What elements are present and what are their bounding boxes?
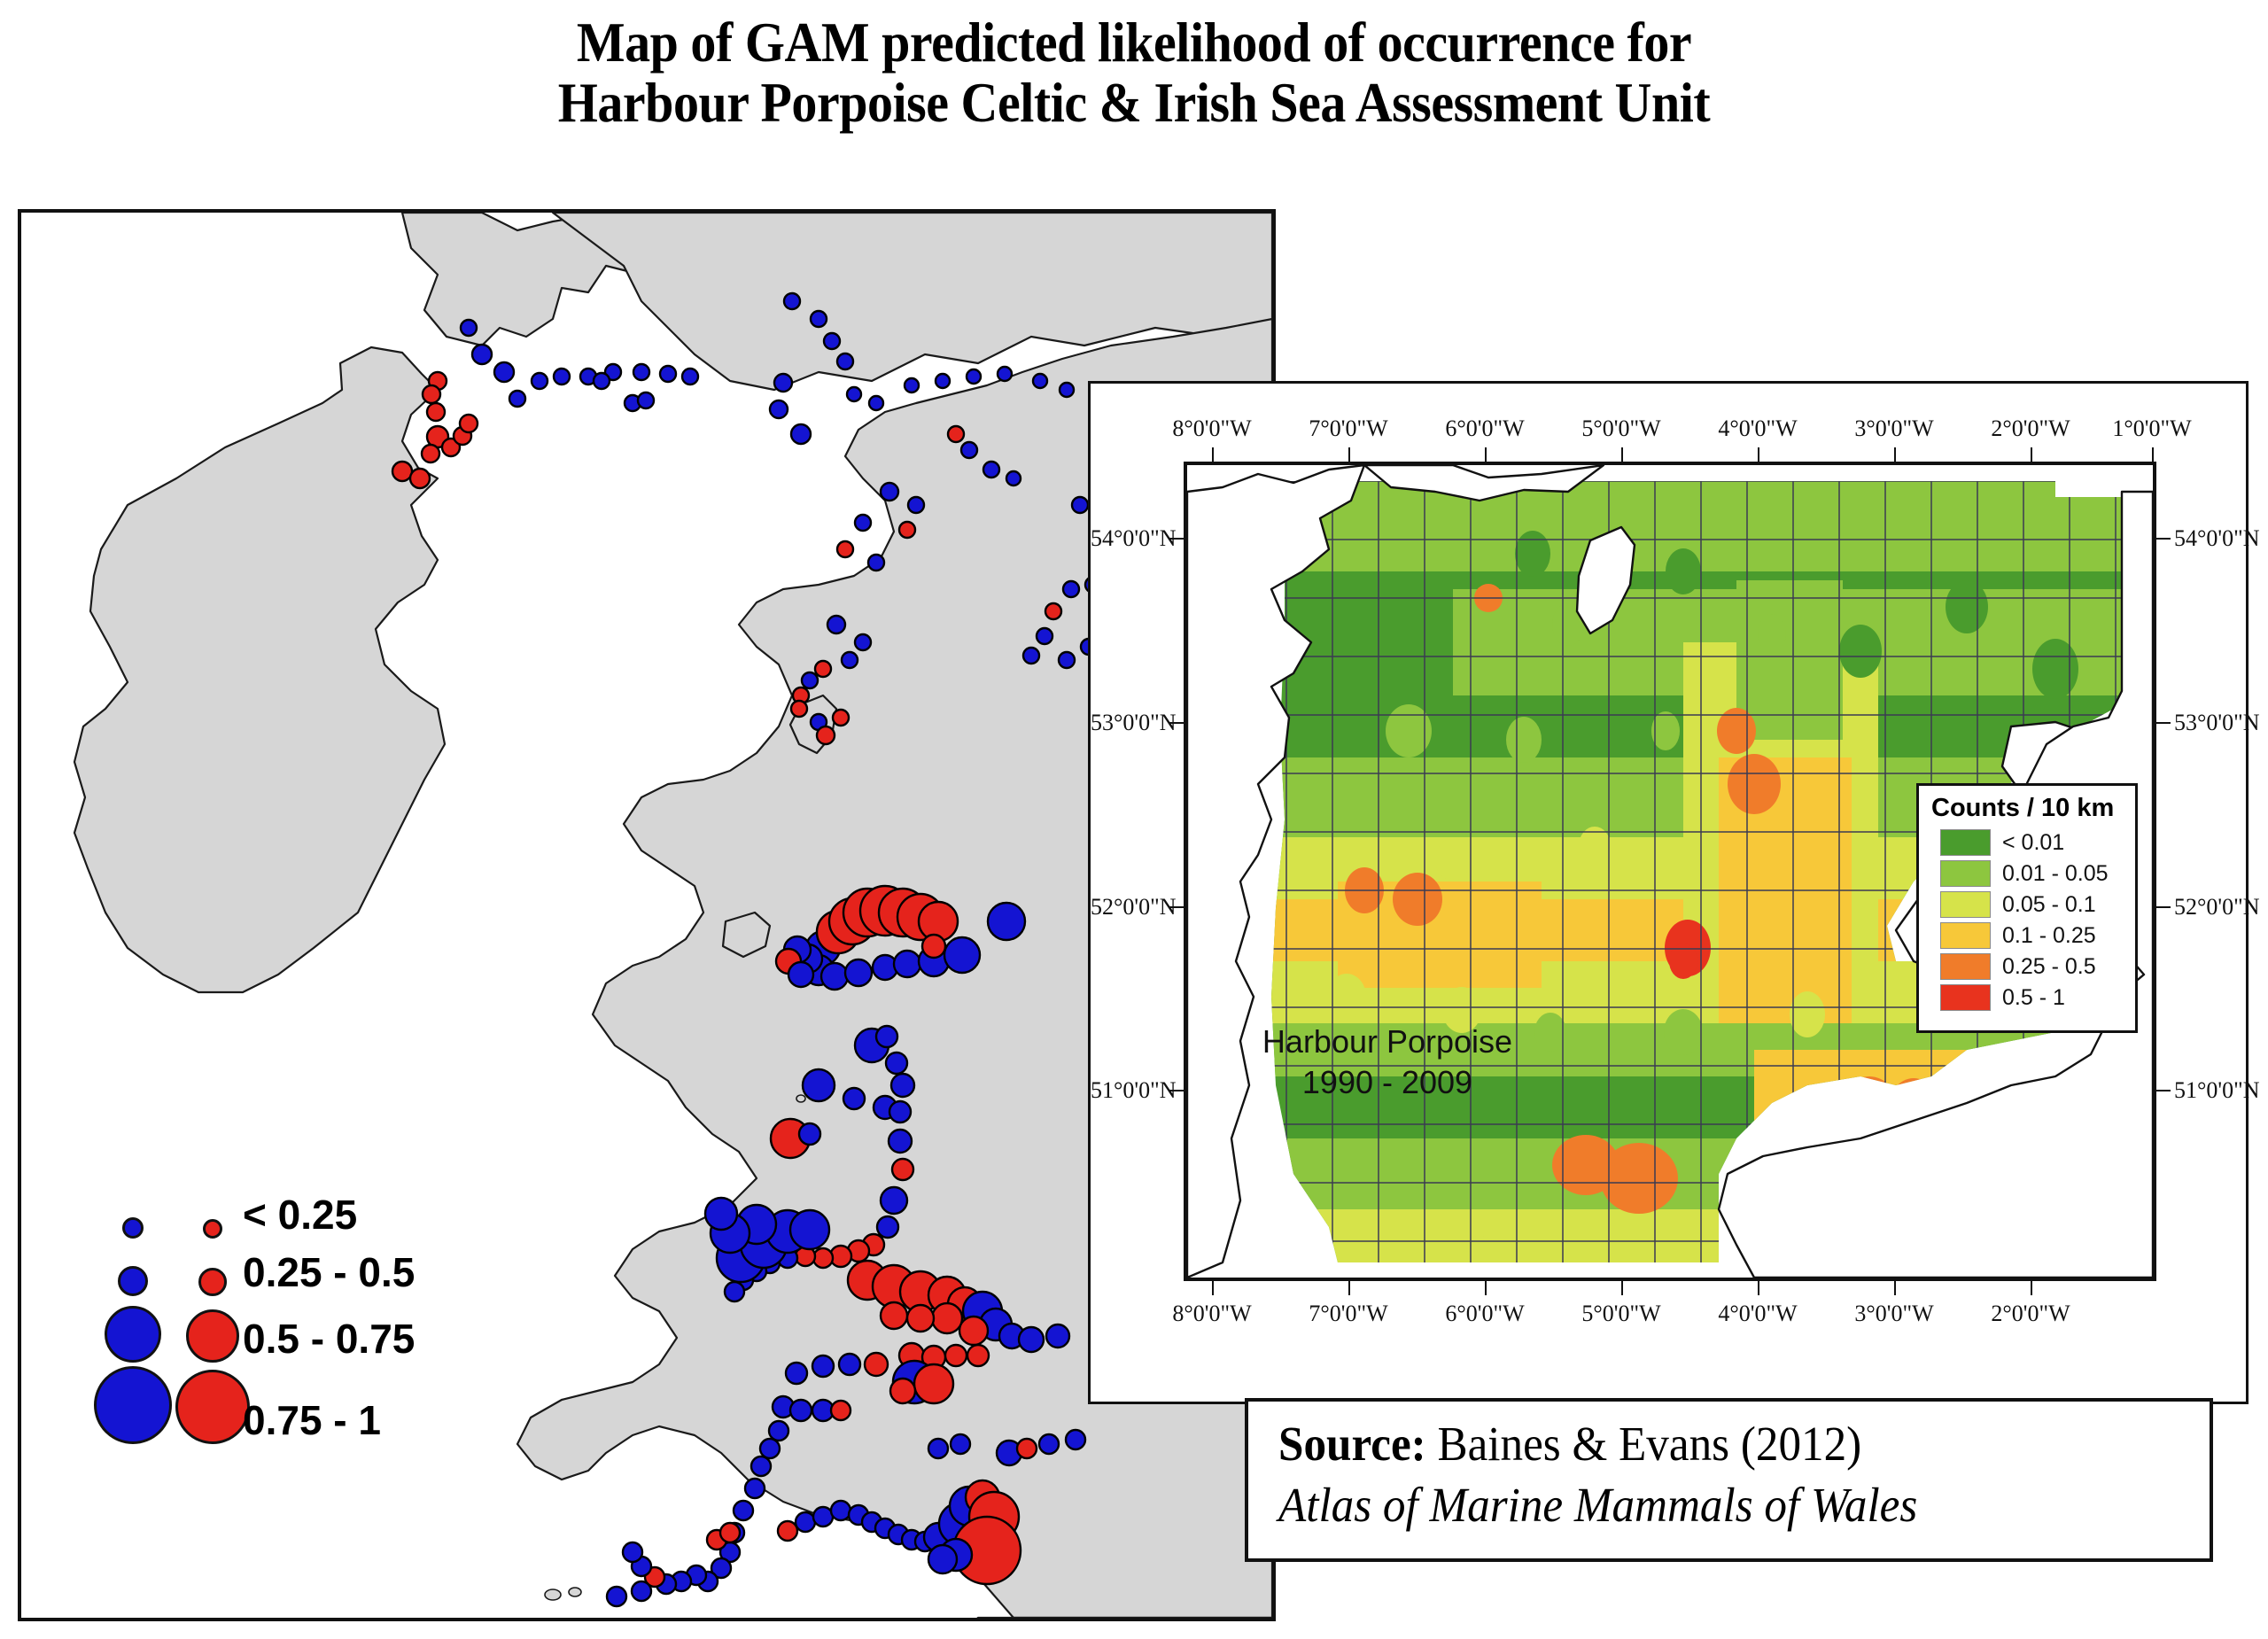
- inset-lon-label-top: 3°0'0"W: [1854, 416, 1933, 442]
- occurrence-point: [791, 701, 807, 717]
- density-blob: [1758, 614, 1786, 653]
- occurrence-point: [769, 1421, 788, 1441]
- inset-lat-label-left: 51°0'0"N: [1091, 1077, 1176, 1104]
- density-blob: [1666, 548, 1701, 594]
- counts-swatch: [1940, 860, 1991, 887]
- inset-tick: [1894, 447, 1896, 462]
- legend-symbol-red: [175, 1370, 250, 1444]
- counts-swatch: [1940, 984, 1991, 1011]
- inset-tick: [1169, 722, 1184, 724]
- occurrence-point: [1059, 652, 1075, 668]
- counts-label: 0.05 - 0.1: [2002, 892, 2096, 918]
- occurrence-point: [1066, 1430, 1085, 1449]
- inset-tick: [2152, 447, 2154, 462]
- inset-tick: [1169, 906, 1184, 908]
- counts-legend-row: 0.5 - 1: [1940, 984, 2135, 1011]
- occurrence-point: [509, 391, 525, 407]
- occurrence-point: [1039, 1434, 1059, 1454]
- occurrence-point: [817, 726, 835, 744]
- occurrence-point: [837, 541, 853, 557]
- counts-swatch: [1940, 922, 1991, 949]
- occurrence-point: [770, 400, 788, 418]
- occurrence-point: [494, 362, 514, 382]
- occurrence-point: [802, 672, 818, 688]
- occurrence-point: [922, 935, 945, 958]
- occurrence-point: [607, 1587, 626, 1606]
- occurrence-point: [868, 555, 884, 571]
- occurrence-point: [948, 426, 964, 442]
- counts-label: 0.25 - 0.5: [2002, 954, 2096, 980]
- occurrence-point: [821, 963, 848, 990]
- occurrence-point: [786, 1363, 807, 1384]
- occurrence-point: [472, 345, 492, 364]
- inset-lon-label-top: 5°0'0"W: [1581, 416, 1660, 442]
- occurrence-point: [788, 962, 813, 987]
- occurrence-point: [778, 1521, 797, 1541]
- occurrence-point: [799, 1123, 820, 1145]
- density-cell: [1736, 580, 1843, 740]
- legend-symbol-red: [203, 1219, 222, 1239]
- inset-lon-label-top: 1°0'0"W: [2112, 416, 2191, 442]
- occurrence-point: [891, 1074, 914, 1097]
- occurrence-point: [725, 1282, 744, 1301]
- occurrence-point: [423, 385, 440, 403]
- inset-tick: [1348, 447, 1350, 462]
- occurrence-point: [961, 442, 977, 458]
- occurrence-point: [751, 1456, 771, 1476]
- counts-label: 0.5 - 1: [2002, 985, 2065, 1011]
- inset-tick: [1212, 447, 1214, 462]
- occurrence-point: [1006, 471, 1021, 485]
- inset-tick: [1758, 447, 1759, 462]
- density-blob: [1664, 1009, 1703, 1055]
- occurrence-point: [845, 959, 872, 986]
- occurrence-point: [790, 1210, 829, 1249]
- occurrence-point: [623, 1542, 642, 1562]
- legend-label: 0.75 - 1: [243, 1396, 381, 1444]
- occurrence-point: [907, 1305, 934, 1332]
- counts-swatch: [1940, 891, 1991, 918]
- inset-lon-label-top: 6°0'0"W: [1445, 416, 1524, 442]
- source-box: Source: Baines & Evans (2012) Atlas of M…: [1245, 1398, 2213, 1562]
- occurrence-point: [427, 403, 445, 421]
- inset-tick: [2031, 447, 2032, 462]
- counts-legend-row: < 0.01: [1940, 829, 2135, 856]
- inset-tick: [1894, 1281, 1896, 1295]
- occurrence-point: [812, 1355, 834, 1377]
- occurrence-point: [827, 616, 845, 633]
- source-citation: Baines & Evans (2012): [1426, 1417, 1862, 1471]
- inset-lon-label-bottom: 6°0'0"W: [1445, 1301, 1524, 1327]
- occurrence-point: [1033, 374, 1047, 388]
- occurrence-point: [890, 1379, 915, 1403]
- inset-tick: [1348, 1281, 1350, 1295]
- inset-lat-label-left: 52°0'0"N: [1091, 894, 1176, 920]
- occurrence-point: [831, 1401, 850, 1420]
- landmass: [74, 347, 445, 992]
- counts-swatch: [1940, 829, 1991, 856]
- occurrence-point: [784, 293, 800, 309]
- occurrence-point: [461, 320, 477, 336]
- occurrence-point: [633, 364, 649, 380]
- occurrence-point: [928, 1545, 957, 1573]
- occurrence-point: [881, 483, 898, 501]
- counts-legend-title: Counts / 10 km: [1931, 794, 2135, 823]
- occurrence-point: [998, 367, 1012, 381]
- occurrence-point: [833, 710, 849, 726]
- density-blob: [1839, 625, 1882, 678]
- density-blob: [1360, 936, 1378, 960]
- density-blob: [1515, 531, 1550, 577]
- inset-tick: [2156, 1090, 2171, 1091]
- occurrence-point: [908, 497, 924, 513]
- occurrence-point: [745, 1479, 765, 1498]
- counts-label: < 0.01: [2002, 830, 2064, 856]
- inset-lat-label-left: 53°0'0"N: [1091, 710, 1176, 736]
- title-line-1: Map of GAM predicted likelihood of occur…: [90, 12, 2177, 73]
- legend-symbol-blue: [118, 1266, 148, 1296]
- occurrence-point: [892, 1159, 913, 1180]
- occurrence-point: [824, 333, 840, 349]
- counts-legend-row: 0.25 - 0.5: [1940, 953, 2135, 980]
- inset-caption: Harbour Porpoise 1990 - 2009: [1232, 1021, 1542, 1103]
- legend-symbol-blue: [105, 1306, 161, 1363]
- density-blob: [1946, 580, 1988, 633]
- inset-caption-species: Harbour Porpoise: [1232, 1021, 1542, 1062]
- inset-tick: [2156, 906, 2171, 908]
- counts-legend-row: 0.05 - 0.1: [1940, 891, 2135, 918]
- occurrence-point: [983, 462, 999, 478]
- inset-lon-label-top: 8°0'0"W: [1172, 416, 1251, 442]
- occurrence-point: [951, 1434, 970, 1454]
- occurrence-point: [734, 1501, 753, 1520]
- occurrence-point: [1060, 383, 1074, 397]
- occurrence-point: [831, 1501, 850, 1520]
- density-blob: [1506, 717, 1542, 763]
- occurrence-point: [774, 374, 792, 392]
- legend-label: < 0.25: [243, 1191, 357, 1239]
- occurrence-point: [532, 373, 548, 389]
- occurrence-point: [876, 1026, 897, 1047]
- inset-lat-label-right: 54°0'0"N: [2174, 525, 2259, 552]
- island: [796, 1095, 805, 1102]
- occurrence-point: [796, 1512, 815, 1532]
- occurrence-point: [839, 1354, 860, 1375]
- occurrence-point: [889, 1101, 911, 1122]
- occurrence-point: [392, 462, 412, 481]
- inset-caption-years: 1990 - 2009: [1232, 1062, 1542, 1103]
- inset-lon-label-top: 4°0'0"W: [1718, 416, 1797, 442]
- occurrence-point: [881, 1187, 907, 1214]
- occurrence-point: [967, 369, 981, 384]
- occurrence-point: [869, 396, 883, 410]
- inset-lat-label-right: 51°0'0"N: [2174, 1077, 2259, 1104]
- inset-lon-label-top: 2°0'0"W: [1991, 416, 2070, 442]
- occurrence-point: [1063, 581, 1079, 597]
- density-blob: [1393, 873, 1442, 926]
- inset-lon-label-bottom: 4°0'0"W: [1718, 1301, 1797, 1327]
- source-citation-line: Source: Baines & Evans (2012): [1278, 1414, 2144, 1475]
- occurrence-point: [1019, 1327, 1044, 1352]
- occurrence-point: [944, 937, 980, 973]
- legend-symbol-blue: [122, 1217, 144, 1239]
- occurrence-point: [422, 445, 439, 462]
- inset-lon-label-top: 7°0'0"W: [1309, 416, 1387, 442]
- inset-tick: [1485, 1281, 1487, 1295]
- occurrence-point: [842, 652, 858, 668]
- occurrence-point: [594, 373, 610, 389]
- inset-lat-label-left: 54°0'0"N: [1091, 525, 1176, 552]
- occurrence-point: [705, 1198, 737, 1230]
- occurrence-point: [554, 369, 570, 385]
- occurrence-point: [1023, 648, 1039, 664]
- occurrence-point: [928, 1439, 948, 1458]
- occurrence-point: [460, 415, 478, 432]
- counts-label: 0.01 - 0.05: [2002, 861, 2109, 887]
- occurrence-point: [881, 1302, 907, 1329]
- occurrence-point: [894, 951, 920, 977]
- occurrence-point: [760, 1439, 780, 1458]
- occurrence-point: [843, 1088, 865, 1109]
- inset-lon-label-bottom: 5°0'0"W: [1581, 1301, 1660, 1327]
- counts-swatch: [1940, 953, 1991, 980]
- occurrence-point: [803, 1069, 835, 1101]
- occurrence-point: [815, 661, 831, 677]
- occurrence-point: [813, 1507, 833, 1526]
- inset-lon-label-bottom: 7°0'0"W: [1309, 1301, 1387, 1327]
- occurrence-point: [865, 1353, 888, 1376]
- occurrence-point: [720, 1523, 740, 1542]
- counts-label: 0.1 - 0.25: [2002, 923, 2096, 949]
- density-blob: [1435, 838, 1471, 881]
- inset-tick: [1758, 1281, 1759, 1295]
- inset-tick: [2031, 1281, 2032, 1295]
- occurrence-point: [855, 515, 871, 531]
- occurrence-point: [632, 1581, 651, 1601]
- source-prefix: Source:: [1278, 1417, 1426, 1471]
- occurrence-point: [936, 374, 950, 388]
- legend-label: 0.5 - 0.75: [243, 1315, 415, 1363]
- occurrence-point: [813, 1248, 833, 1268]
- inset-tick: [1621, 1281, 1623, 1295]
- density-blob: [1728, 754, 1781, 814]
- occurrence-point: [988, 903, 1025, 940]
- occurrence-point: [886, 1053, 907, 1074]
- occurrence-point: [905, 378, 919, 392]
- occurrence-point: [790, 1400, 812, 1421]
- occurrence-point: [1045, 603, 1061, 619]
- inset-tick: [2156, 538, 2171, 540]
- occurrence-point: [682, 369, 698, 385]
- page-title: Map of GAM predicted likelihood of occur…: [90, 12, 2177, 133]
- inset-lon-label-bottom: 3°0'0"W: [1854, 1301, 1933, 1327]
- density-blob: [2032, 639, 2078, 699]
- counts-legend: Counts / 10 km < 0.01 0.01 - 0.05 0.05 -…: [1916, 783, 2138, 1033]
- occurrence-point: [967, 1345, 989, 1366]
- occurrence-point: [945, 1345, 967, 1366]
- inset-lat-label-right: 53°0'0"N: [2174, 710, 2259, 736]
- island: [545, 1589, 561, 1600]
- occurrence-point: [959, 1317, 988, 1345]
- title-line-2: Harbour Porpoise Celtic & Irish Sea Asse…: [90, 73, 2177, 133]
- density-blob: [1600, 1143, 1678, 1214]
- inset-lon-label-bottom: 2°0'0"W: [1991, 1301, 2070, 1327]
- occurrence-point: [877, 1216, 898, 1238]
- legend-label: 0.25 - 0.5: [243, 1248, 415, 1296]
- density-blob: [1651, 711, 1680, 750]
- occurrence-point: [660, 366, 676, 382]
- occurrence-point: [847, 387, 861, 401]
- legend-symbol-red: [198, 1268, 227, 1296]
- occurrence-point: [410, 469, 430, 488]
- inset-tick: [1169, 1090, 1184, 1091]
- legend-symbol-red: [186, 1309, 239, 1363]
- occurrence-point: [638, 392, 654, 408]
- inset-tick: [1212, 1281, 1214, 1295]
- occurrence-point: [855, 634, 871, 650]
- occurrence-point: [1072, 497, 1088, 513]
- occurrence-point: [1017, 1439, 1037, 1458]
- inset-tick: [1621, 447, 1623, 462]
- occurrence-point: [791, 424, 811, 444]
- occurrence-point: [1046, 1324, 1069, 1348]
- inset-lon-label-bottom: 8°0'0"W: [1172, 1301, 1251, 1327]
- inset-tick: [1485, 447, 1487, 462]
- counts-legend-row: 0.01 - 0.05: [1940, 860, 2135, 887]
- inset-tick: [2156, 722, 2171, 724]
- occurrence-point: [837, 353, 853, 369]
- occurrence-point: [914, 1364, 953, 1403]
- occurrence-point: [889, 1130, 912, 1153]
- occurrence-point: [1037, 628, 1052, 644]
- occurrence-point: [932, 1303, 962, 1333]
- inset-tick: [1169, 538, 1184, 540]
- occurrence-point: [811, 311, 827, 327]
- legend-symbol-blue: [94, 1366, 172, 1444]
- occurrence-point: [899, 522, 915, 538]
- inset-lat-label-right: 52°0'0"N: [2174, 894, 2259, 920]
- source-publication: Atlas of Marine Mammals of Wales: [1278, 1475, 2144, 1536]
- counts-legend-row: 0.1 - 0.25: [1940, 922, 2135, 949]
- island: [569, 1588, 581, 1596]
- density-blob: [1790, 991, 1825, 1037]
